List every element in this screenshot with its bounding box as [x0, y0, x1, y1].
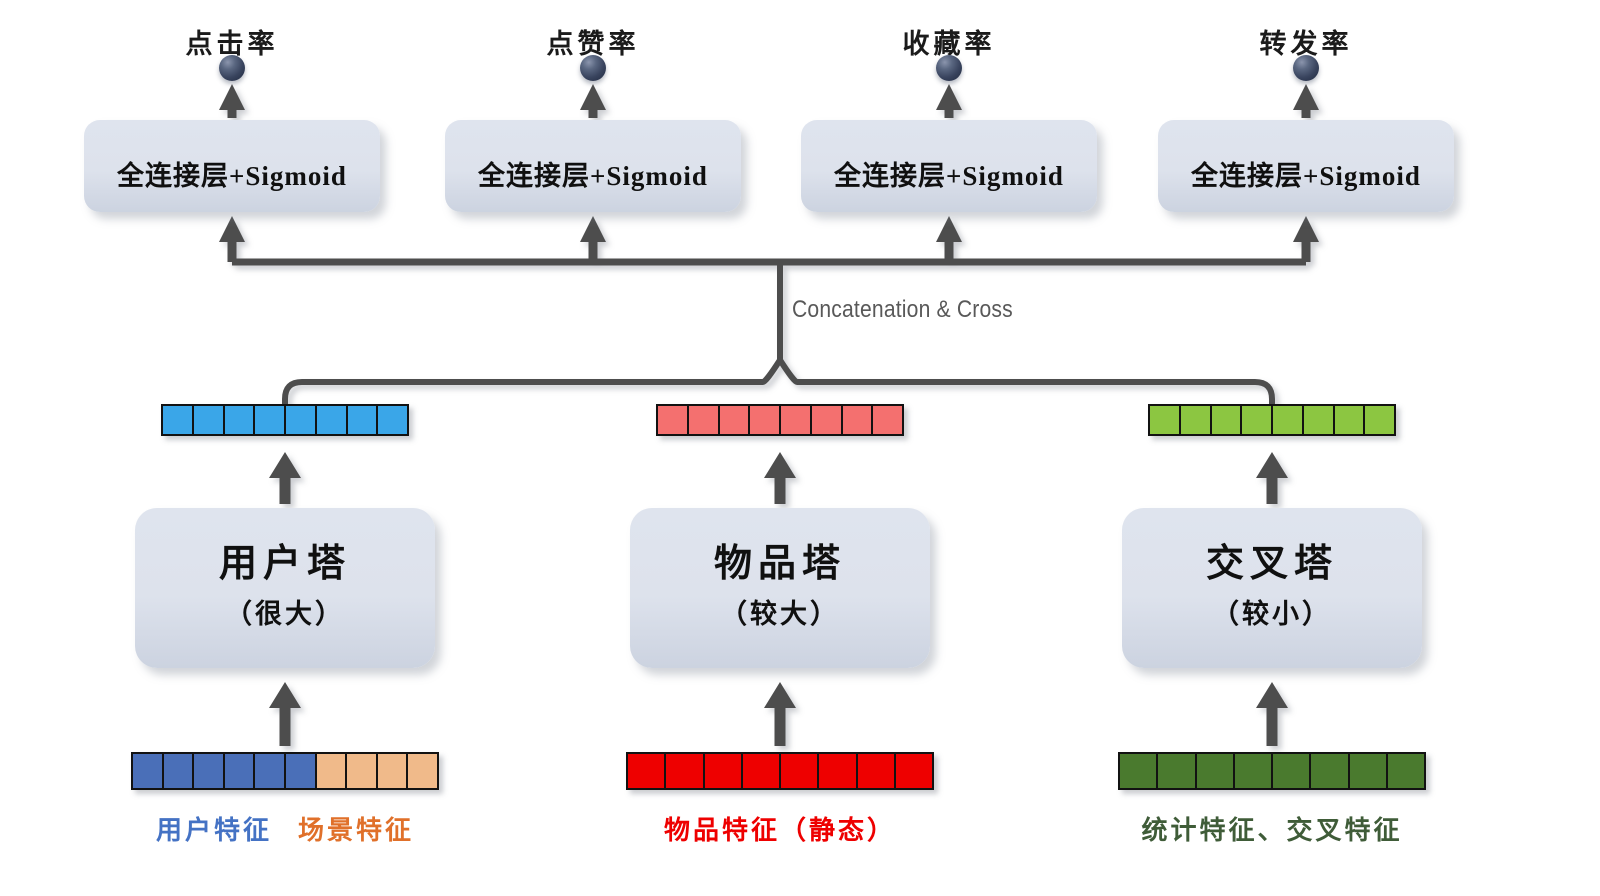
feature-cell: [1158, 754, 1196, 788]
input-bar-cross-tower: [1118, 752, 1426, 790]
embedding-bar-cross-tower: [1148, 404, 1396, 436]
feature-cell: [1311, 754, 1349, 788]
fc-sigmoid-box-ctr[interactable]: 全连接层+Sigmoid: [84, 120, 380, 212]
feature-cell: [1388, 754, 1424, 788]
user-tower[interactable]: 用户塔 （很大）: [135, 508, 435, 668]
embedding-cell: [689, 406, 720, 434]
caption-item-tower: 物品特征（静态）: [664, 810, 896, 847]
embedding-cell: [1150, 406, 1181, 434]
embedding-cell: [750, 406, 781, 434]
feature-cell: [666, 754, 704, 788]
input-bar-item-tower: [626, 752, 934, 790]
embedding-bar-item-tower: [656, 404, 904, 436]
feature-cell: [286, 754, 317, 788]
feature-caption: 用户特征: [156, 810, 272, 847]
embedding-cell: [1212, 406, 1243, 434]
caption-cross-tower: 统计特征、交叉特征: [1141, 810, 1402, 847]
feature-cell: [347, 754, 378, 788]
embedding-cell: [781, 406, 812, 434]
embedding-cell: [255, 406, 286, 434]
feature-cell: [896, 754, 932, 788]
embedding-cell: [1242, 406, 1273, 434]
embedding-cell: [843, 406, 874, 434]
fc-sigmoid-label: 全连接层+Sigmoid: [117, 154, 347, 193]
embedding-cell: [1365, 406, 1394, 434]
embedding-cell: [286, 406, 317, 434]
embedding-cell: [812, 406, 843, 434]
embedding-cell: [873, 406, 902, 434]
caption-user-tower: 用户特征场景特征: [156, 810, 414, 847]
embedding-cell: [348, 406, 379, 434]
input-bar-user-tower: [131, 752, 439, 790]
feature-cell: [255, 754, 286, 788]
output-node-like: [580, 55, 606, 81]
diagram-canvas: 点击率 全连接层+Sigmoid 点赞率 全连接层+Sigmoid 收藏率 全连…: [0, 0, 1600, 896]
user-tower-title: 用户塔: [219, 545, 351, 585]
feature-caption: 统计特征、交叉特征: [1141, 816, 1402, 845]
feature-cell: [819, 754, 857, 788]
item-tower-subtitle: （较大）: [720, 592, 840, 631]
fc-sigmoid-label: 全连接层+Sigmoid: [1191, 154, 1421, 193]
feature-cell: [378, 754, 409, 788]
embedding-cell: [317, 406, 348, 434]
embedding-cell: [658, 406, 689, 434]
feature-cell: [1273, 754, 1311, 788]
embedding-cell: [1181, 406, 1212, 434]
feature-cell: [317, 754, 348, 788]
embedding-cell: [194, 406, 225, 434]
feature-cell: [408, 754, 437, 788]
item-tower[interactable]: 物品塔 （较大）: [630, 508, 930, 668]
concatenation-label: Concatenation & Cross: [792, 296, 1013, 324]
feature-cell: [705, 754, 743, 788]
fc-sigmoid-box-favor[interactable]: 全连接层+Sigmoid: [801, 120, 1097, 212]
feature-cell: [1120, 754, 1158, 788]
embedding-cell: [1304, 406, 1335, 434]
embedding-cell: [225, 406, 256, 434]
feature-cell: [164, 754, 195, 788]
fc-sigmoid-box-share[interactable]: 全连接层+Sigmoid: [1158, 120, 1454, 212]
feature-cell: [194, 754, 225, 788]
feature-cell: [133, 754, 164, 788]
feature-cell: [1197, 754, 1235, 788]
feature-caption: 物品特征（静态）: [664, 816, 896, 845]
feature-cell: [225, 754, 256, 788]
fc-sigmoid-label: 全连接层+Sigmoid: [834, 154, 1064, 193]
output-node-ctr: [219, 55, 245, 81]
embedding-cell: [378, 406, 407, 434]
cross-tower[interactable]: 交叉塔 （较小）: [1122, 508, 1422, 668]
embedding-cell: [1335, 406, 1366, 434]
fc-sigmoid-box-like[interactable]: 全连接层+Sigmoid: [445, 120, 741, 212]
item-tower-title: 物品塔: [714, 545, 846, 585]
feature-cell: [743, 754, 781, 788]
feature-cell: [858, 754, 896, 788]
feature-cell: [628, 754, 666, 788]
embedding-cell: [1273, 406, 1304, 434]
feature-cell: [1350, 754, 1388, 788]
user-tower-subtitle: （很大）: [225, 592, 345, 631]
embedding-cell: [163, 406, 194, 434]
cross-tower-subtitle: （较小）: [1212, 592, 1332, 631]
feature-caption: 场景特征: [298, 810, 414, 847]
fc-sigmoid-label: 全连接层+Sigmoid: [478, 154, 708, 193]
embedding-cell: [720, 406, 751, 434]
output-node-share: [1293, 55, 1319, 81]
embedding-bar-user-tower: [161, 404, 409, 436]
cross-tower-title: 交叉塔: [1206, 545, 1338, 585]
output-node-favor: [936, 55, 962, 81]
feature-cell: [781, 754, 819, 788]
feature-cell: [1235, 754, 1273, 788]
